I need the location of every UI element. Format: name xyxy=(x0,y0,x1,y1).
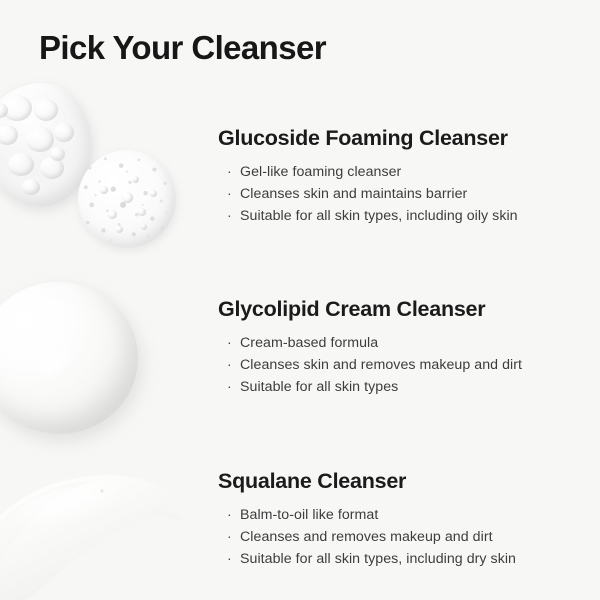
section-glycolipid-cream-cleanser: Glycolipid Cream Cleanser · Cream-based … xyxy=(218,297,588,398)
cleanser-comparison-infographic: Pick Your Cleanser xyxy=(0,0,600,600)
foam-bubble-icon xyxy=(122,192,133,203)
list-item-text: Suitable for all skin types, including o… xyxy=(240,208,518,224)
bullet-dot-icon: · xyxy=(227,504,232,526)
list-item: · Cream-based formula xyxy=(218,332,588,354)
gel-bubble-icon xyxy=(22,179,40,195)
gel-bubble-icon xyxy=(0,125,18,145)
list-item-text: Cleanses skin and maintains barrier xyxy=(240,186,467,202)
list-item-text: Cleanses and removes makeup and dirt xyxy=(240,529,493,545)
gel-bubble-icon xyxy=(50,147,65,161)
foam-bubble-icon xyxy=(100,186,108,194)
list-item: · Cleanses skin and removes makeup and d… xyxy=(218,354,588,376)
foam-bubble-icon xyxy=(150,190,157,197)
bullet-dot-icon: · xyxy=(227,548,232,570)
list-item: · Suitable for all skin types, including… xyxy=(218,205,588,227)
list-item: · Suitable for all skin types xyxy=(218,376,588,398)
list-item: · Balm-to-oil like format xyxy=(218,504,588,526)
list-item: · Cleanses skin and maintains barrier xyxy=(218,183,588,205)
white-foam-disc-image xyxy=(78,150,176,248)
bullet-dot-icon: · xyxy=(227,332,232,354)
section-heading: Glycolipid Cream Cleanser xyxy=(218,297,588,323)
list-item-text: Cream-based formula xyxy=(240,335,378,351)
page-title: Pick Your Cleanser xyxy=(39,29,326,67)
gel-bubble-icon xyxy=(54,123,74,142)
section-heading: Squalane Cleanser xyxy=(218,469,588,495)
foam-bubble-icon xyxy=(141,224,147,230)
foam-bubble-icon xyxy=(138,208,146,216)
white-balm-smear-image xyxy=(0,455,195,600)
bullet-dot-icon: · xyxy=(227,526,232,548)
list-item: · Gel-like foaming cleanser xyxy=(218,161,588,183)
list-item-text: Gel-like foaming cleanser xyxy=(240,164,401,180)
gel-bubble-icon xyxy=(34,99,58,121)
balm-smear-shape xyxy=(0,455,195,600)
bullet-dot-icon: · xyxy=(227,183,232,205)
list-item-text: Balm-to-oil like format xyxy=(240,507,378,523)
foam-bubble-icon xyxy=(132,176,139,183)
list-item-text: Cleanses skin and removes makeup and dir… xyxy=(240,357,522,373)
foam-bubble-icon xyxy=(108,210,117,219)
list-item: · Cleanses and removes makeup and dirt xyxy=(218,526,588,548)
section-bullet-list: · Gel-like foaming cleanser · Cleanses s… xyxy=(218,161,588,227)
section-squalane-cleanser: Squalane Cleanser · Balm-to-oil like for… xyxy=(218,469,588,570)
foam-bubble-icon xyxy=(116,226,123,233)
section-heading: Glucoside Foaming Cleanser xyxy=(218,126,588,152)
section-bullet-list: · Cream-based formula · Cleanses skin an… xyxy=(218,332,588,398)
bullet-dot-icon: · xyxy=(227,354,232,376)
section-glucoside-foaming-cleanser: Glucoside Foaming Cleanser · Gel-like fo… xyxy=(218,126,588,227)
list-item-text: Suitable for all skin types xyxy=(240,379,398,395)
bullet-dot-icon: · xyxy=(227,161,232,183)
list-item-text: Suitable for all skin types, including d… xyxy=(240,551,516,567)
gel-bubble-icon xyxy=(8,153,34,176)
bullet-dot-icon: · xyxy=(227,376,232,398)
bullet-dot-icon: · xyxy=(227,205,232,227)
list-item: · Suitable for all skin types, including… xyxy=(218,548,588,570)
section-bullet-list: · Balm-to-oil like format · Cleanses and… xyxy=(218,504,588,570)
gel-bubble-icon xyxy=(26,127,54,152)
balm-speckle xyxy=(100,489,103,492)
